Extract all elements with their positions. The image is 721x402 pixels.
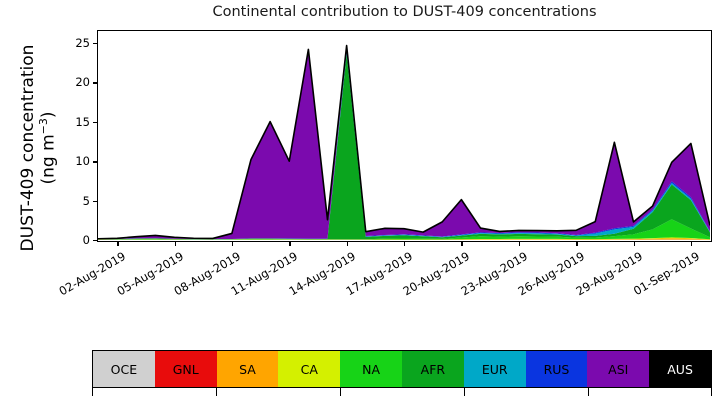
legend-item-label: EUR [482, 362, 508, 377]
y-axis-tick-label: 0 [62, 233, 90, 247]
y-axis-tick-labels: 0510152025 [58, 0, 90, 402]
legend-tick-mark [92, 388, 93, 396]
x-axis-tick-mark [576, 242, 577, 246]
legend-item-label: AFR [421, 362, 445, 377]
x-axis-tick-mark [232, 242, 233, 246]
y-axis-tick-label: 10 [62, 154, 90, 168]
chart-title: Continental contribution to DUST-409 con… [97, 4, 712, 20]
x-axis-tick-mark [404, 242, 405, 246]
y-axis-label-text: DUST-409 concentration [18, 45, 38, 252]
legend-item-gnl[interactable]: GNL [155, 351, 217, 387]
legend-tick-marks [92, 388, 712, 402]
plot-area [97, 30, 712, 242]
y-axis-tick-label: 20 [62, 75, 90, 89]
figure-canvas: Continental contribution to DUST-409 con… [0, 0, 721, 402]
x-axis-tick-mark [691, 242, 692, 246]
y-axis-label: DUST-409 concentration (ng m−3) [19, 18, 49, 278]
legend-item-label: SA [239, 362, 256, 377]
legend-item-afr[interactable]: AFR [402, 351, 464, 387]
continent-legend-colorbar[interactable]: OCEGNLSACANAAFREURRUSASIAUS [92, 350, 712, 388]
legend-tick-mark [711, 388, 712, 396]
y-axis-tick-label: 5 [62, 194, 90, 208]
legend-item-label: GNL [173, 362, 199, 377]
y-axis-tick-label: 25 [62, 36, 90, 50]
x-axis-tick-mark [461, 242, 462, 246]
legend-tick-mark [464, 388, 465, 396]
legend-item-label: OCE [111, 362, 137, 377]
legend-tick-mark [588, 388, 589, 396]
stacked-area-series [98, 31, 710, 240]
legend-item-ca[interactable]: CA [278, 351, 340, 387]
legend-item-aus[interactable]: AUS [649, 351, 711, 387]
legend-item-label: NA [362, 362, 380, 377]
legend-item-label: RUS [544, 362, 570, 377]
legend-item-rus[interactable]: RUS [526, 351, 588, 387]
x-axis-tick-mark [175, 242, 176, 246]
x-axis-tick-mark [117, 242, 118, 246]
x-axis-tick-mark [347, 242, 348, 246]
legend-item-eur[interactable]: EUR [464, 351, 526, 387]
legend-item-label: CA [301, 362, 318, 377]
x-axis-tick-mark [519, 242, 520, 246]
legend-item-label: AUS [667, 362, 693, 377]
y-axis-units: (ng m−3) [38, 18, 59, 278]
legend-tick-mark [216, 388, 217, 396]
legend-item-asi[interactable]: ASI [587, 351, 649, 387]
legend-item-sa[interactable]: SA [217, 351, 279, 387]
x-axis-tick-mark [634, 242, 635, 246]
legend-tick-mark [340, 388, 341, 396]
legend-item-label: ASI [608, 362, 628, 377]
legend-item-oce[interactable]: OCE [93, 351, 155, 387]
y-axis-tick-label: 15 [62, 115, 90, 129]
x-axis-tick-mark [289, 242, 290, 246]
legend-item-na[interactable]: NA [340, 351, 402, 387]
area-series-asi [98, 46, 710, 240]
